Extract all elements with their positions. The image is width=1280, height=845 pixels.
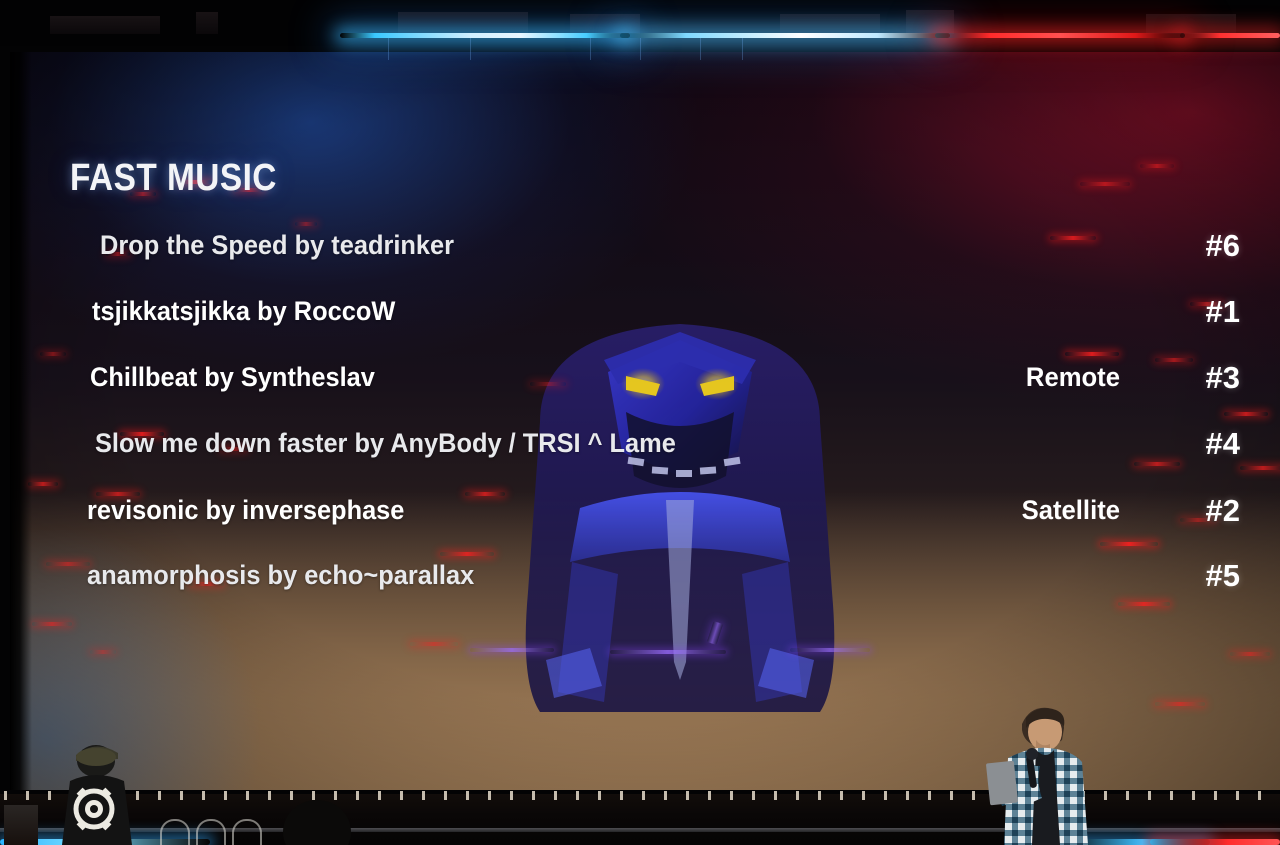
stage-edge-light (1214, 791, 1217, 800)
stage-edge-light (1236, 791, 1239, 800)
ceiling-led-strip-white (620, 33, 950, 38)
entry-rank: #6 (1160, 228, 1240, 264)
stage-edge-light (840, 791, 843, 800)
floor-led-red (1150, 839, 1280, 845)
stage-edge-light (422, 791, 425, 800)
entry-title: anamorphosis by echo~parallax (87, 560, 474, 591)
stage-edge-light (796, 791, 799, 800)
truss-fixture (50, 16, 160, 34)
stage-edge-light (246, 791, 249, 800)
stage-edge-light (1148, 791, 1151, 800)
stage-edge-light (620, 791, 623, 800)
stage-edge-light (576, 791, 579, 800)
screen-left-edge-shadow (10, 52, 32, 790)
truss-wire (742, 38, 743, 60)
stage-edge-light (598, 791, 601, 800)
stage-edge-light (4, 791, 7, 800)
stage-edge-light (488, 791, 491, 800)
truss-wire (640, 38, 641, 60)
entry-title: Drop the Speed by teadrinker (100, 230, 454, 261)
list-item: tsjikkatsjikka by RoccoW (80, 285, 990, 337)
truss-wire (700, 38, 701, 60)
entry-rank: #5 (1160, 558, 1240, 594)
stage-edge-light (554, 791, 557, 800)
crew-member-back (48, 735, 148, 845)
chair-outline (160, 819, 190, 845)
stage-edge-light (774, 791, 777, 800)
truss-fixture (398, 12, 528, 34)
stage-edge-light (642, 791, 645, 800)
entry-rank: #3 (1160, 360, 1240, 396)
venue-photo: FAST MUSIC Drop the Speed by teadrinker#… (0, 0, 1280, 845)
stage-edge-light (356, 791, 359, 800)
entry-title: revisonic by inversephase (87, 495, 404, 526)
entry-title: Chillbeat by Syntheslav (90, 362, 375, 393)
stage-edge-light (26, 791, 29, 800)
stage-edge-light (1192, 791, 1195, 800)
stage-edge-light (884, 791, 887, 800)
truss-wire (388, 38, 389, 60)
entry-title: Slow me down faster by AnyBody / TRSI ^ … (95, 428, 676, 459)
ceiling-led-strip-red-far (1180, 33, 1280, 38)
stage-edge-light (158, 791, 161, 800)
entry-rank: #4 (1160, 426, 1240, 462)
presenter-with-microphone (986, 700, 1106, 845)
stage-monitor-object (4, 805, 38, 845)
truss-wire (470, 38, 471, 60)
truss-fixture (1146, 14, 1236, 34)
stage-edge-light (928, 791, 931, 800)
stage-edge-light (1170, 791, 1173, 800)
audience-head (278, 790, 356, 845)
stage-edge-light (1126, 791, 1129, 800)
stage-edge-light (906, 791, 909, 800)
stage-edge-light (510, 791, 513, 800)
truss-fixture (780, 14, 880, 34)
stage-edge-light (466, 791, 469, 800)
truss-fixture (906, 10, 954, 34)
list-item: Slow me down faster by AnyBody / TRSI ^ … (83, 416, 895, 470)
chair-outline (196, 819, 226, 845)
stage-edge-light (664, 791, 667, 800)
stage-edge-light (752, 791, 755, 800)
stage-edge-light (202, 791, 205, 800)
stage-edge-light (180, 791, 183, 800)
page-title: FAST MUSIC (70, 157, 277, 200)
stage-edge-light (686, 791, 689, 800)
stage-edge-light (862, 791, 865, 800)
stage-edge-light (268, 791, 271, 800)
stage-edge-light (400, 791, 403, 800)
entry-rank: #2 (1160, 493, 1240, 529)
stage-edge-light (730, 791, 733, 800)
stage-edge-light (532, 791, 535, 800)
ceiling-led-strip-red (935, 33, 1185, 38)
stage-edge-light (818, 791, 821, 800)
list-item: anamorphosis by echo~parallax (75, 548, 885, 602)
truss-fixture (570, 14, 640, 34)
stage-edge-light (444, 791, 447, 800)
entry-rank: #1 (1160, 294, 1240, 330)
stage-edge-light (708, 791, 711, 800)
chair-outline (232, 819, 262, 845)
truss-wire (590, 38, 591, 60)
stage-edge-light (1258, 791, 1261, 800)
list-item: revisonic by inversephase (75, 484, 925, 536)
ceiling-led-strip-cyan (340, 33, 630, 38)
list-item: Drop the Speed by teadrinker (88, 219, 870, 271)
stage-edge-light (972, 791, 975, 800)
stage-edge-light (950, 791, 953, 800)
truss-fixture (196, 12, 218, 34)
entry-title: tsjikkatsjikka by RoccoW (92, 296, 395, 327)
stage-edge-light (224, 791, 227, 800)
list-item: Chillbeat by Syntheslav (78, 351, 912, 403)
entry-note: Satellite (873, 495, 1120, 526)
stage-edge-light (378, 791, 381, 800)
projection-screen: FAST MUSIC Drop the Speed by teadrinker#… (10, 52, 1280, 790)
entry-note: Remote (873, 362, 1120, 393)
